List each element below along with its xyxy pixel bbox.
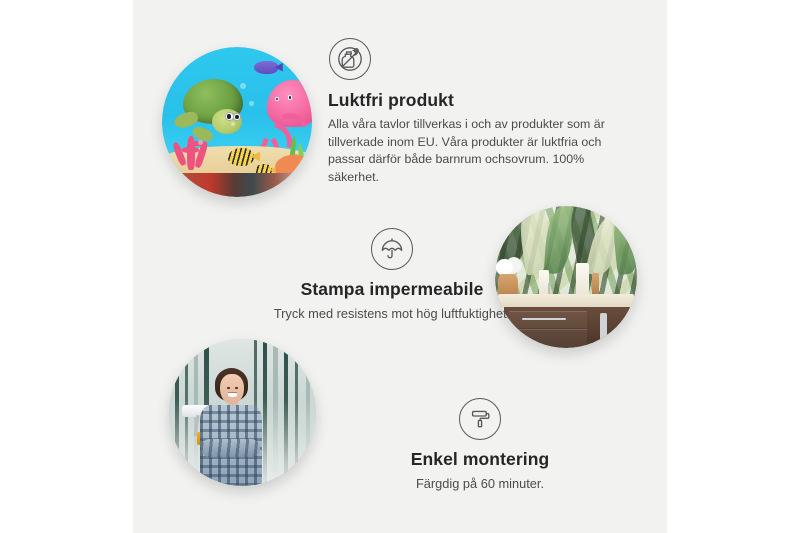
feature-body: Tryck med resistens mot hög luftfuktighe… <box>221 305 563 323</box>
feature-title: Stampa impermeabile <box>221 279 563 300</box>
feature-title: Enkel montering <box>330 449 630 470</box>
product-features-page: Luktfri produkt Alla våra tavlor tillver… <box>0 0 800 533</box>
photo-bottom-strip <box>162 173 312 197</box>
striped-fish <box>228 148 254 166</box>
woman-eye-right <box>235 387 239 389</box>
pink-coral <box>173 128 224 170</box>
woman-smile <box>228 393 237 397</box>
woman-roller-artwork <box>169 339 316 486</box>
paint-roller-icon <box>459 398 501 440</box>
woman-crossed-arms <box>201 439 260 457</box>
bubble <box>231 122 235 126</box>
feature-block-stampa-impermeabile: Stampa impermeabile Tryck med resistens … <box>221 228 563 323</box>
turtle-eye-right <box>233 113 241 122</box>
feature-text-group: Enkel montering Färgdig på 60 minuter. <box>330 449 630 493</box>
bubble <box>240 83 246 89</box>
cabinet-handle <box>600 313 607 340</box>
bubble <box>249 101 254 106</box>
content-panel: Luktfri produkt Alla våra tavlor tillver… <box>133 0 667 533</box>
feature-text-group: Luktfri produkt Alla våra tavlor tillver… <box>328 90 628 187</box>
drawer <box>509 329 587 346</box>
octopus-eye-right <box>288 95 292 99</box>
no-fragrance-icon <box>329 38 371 80</box>
umbrella-icon <box>371 228 413 270</box>
feature-image-underwater <box>162 47 312 197</box>
feature-image-woman-roller <box>169 339 316 486</box>
feature-title: Luktfri produkt <box>328 90 628 111</box>
purple-fish <box>254 61 278 75</box>
woman-eye-left <box>227 387 231 389</box>
feature-block-enkel-montering: Enkel montering Färgdig på 60 minuter. <box>330 398 630 493</box>
feature-block-luktfri-produkt: Luktfri produkt Alla våra tavlor tillver… <box>328 38 628 187</box>
octopus-eye-left <box>275 97 279 101</box>
feature-body: Färgdig på 60 minuter. <box>330 475 630 493</box>
feature-body: Alla våra tavlor tillverkas i och av pro… <box>328 116 628 187</box>
feature-text-group: Stampa impermeabile Tryck med resistens … <box>221 279 563 323</box>
underwater-artwork <box>162 47 312 197</box>
